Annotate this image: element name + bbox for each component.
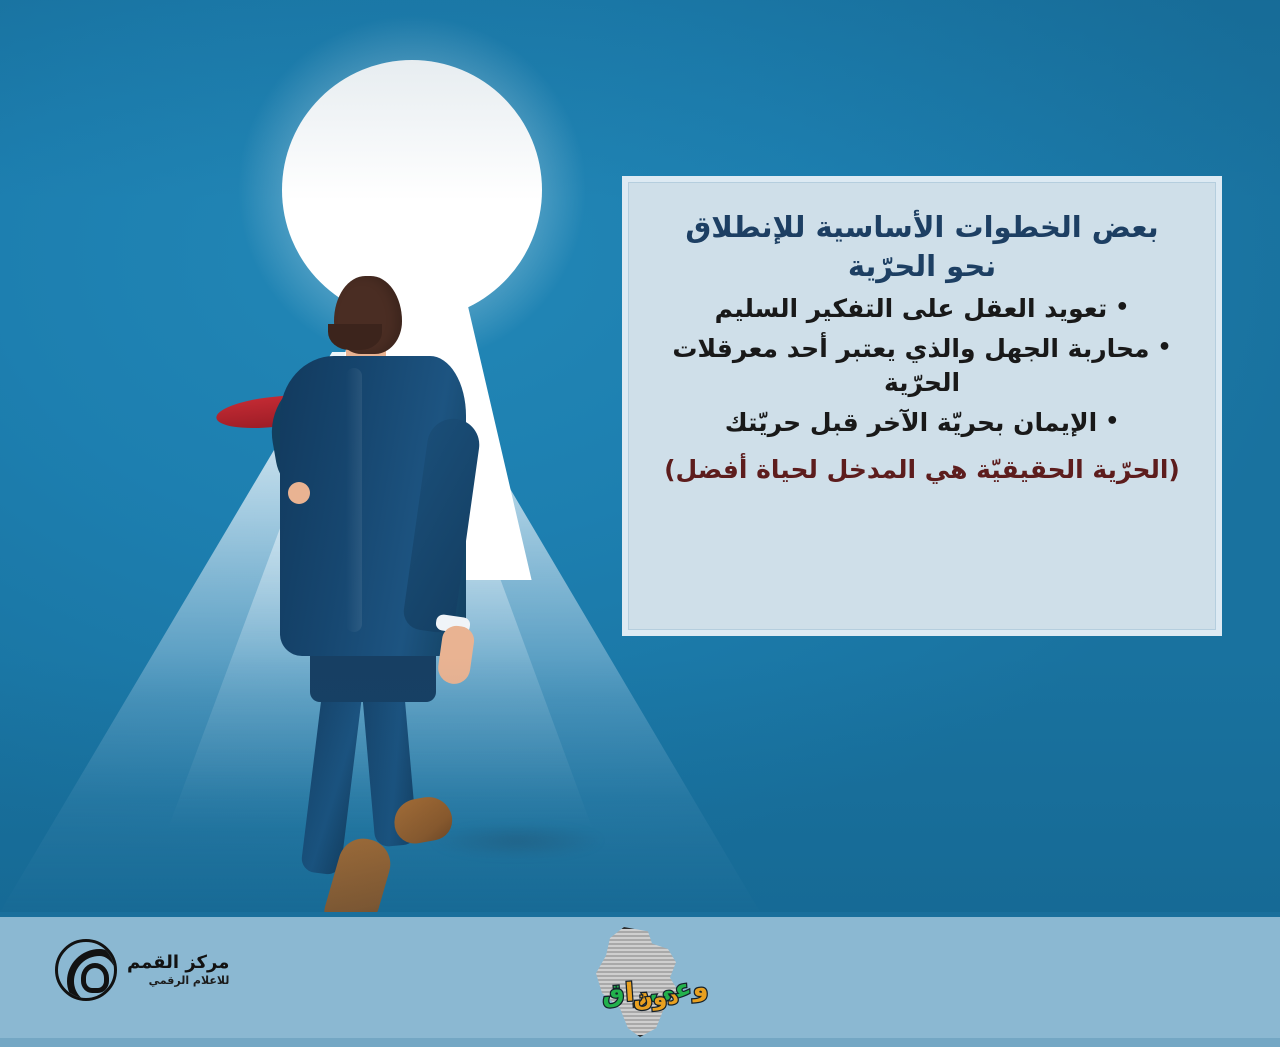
wordmark-line2-label: دون xyxy=(632,983,679,1012)
businessman-running-figure xyxy=(228,268,528,828)
infographic-poster: بعض الخطوات الأساسية للإنطلاق نحو الحرّي… xyxy=(0,0,1280,1047)
bullet-marker-icon: • xyxy=(1158,337,1172,359)
bullet-marker-icon: • xyxy=(1115,297,1129,319)
list-item: •محاربة الجهل والذي يعتبر أحد معرقلات ال… xyxy=(650,332,1194,400)
foot-shadow-front xyxy=(432,824,602,858)
brand-logo-center: و عي را ق دون xyxy=(584,927,704,1037)
closing-note: (الحرّية الحقيقيّة هي المدخل لحياة أفضل) xyxy=(650,452,1194,487)
brand-left-text: مركز القمم للاعلام الرقمي xyxy=(127,953,229,988)
brand-left-subtitle: للاعلام الرقمي xyxy=(127,975,229,987)
steps-list: •تعويد العقل على التفكير السليم •محاربة … xyxy=(650,292,1194,440)
list-item-label: الإيمان بحريّة الآخر قبل حريّتك xyxy=(725,408,1097,437)
list-item-label: تعويد العقل على التفكير السليم xyxy=(715,294,1108,323)
hand-left xyxy=(288,482,310,504)
circular-calligraphy-emblem-icon xyxy=(55,939,117,1001)
bullet-marker-icon: • xyxy=(1105,411,1119,433)
list-item-label: محاربة الجهل والذي يعتبر أحد معرقلات الح… xyxy=(672,334,1149,397)
footer-baseline-rule xyxy=(0,1038,1280,1047)
list-item: •الإيمان بحريّة الآخر قبل حريّتك xyxy=(650,406,1194,440)
jacket-fold xyxy=(346,368,362,632)
page-title: بعض الخطوات الأساسية للإنطلاق نحو الحرّي… xyxy=(650,208,1194,286)
text-panel: بعض الخطوات الأساسية للإنطلاق نحو الحرّي… xyxy=(622,176,1222,636)
brand-left-name: مركز القمم xyxy=(127,953,229,973)
list-item: •تعويد العقل على التفكير السليم xyxy=(650,292,1194,326)
page-title-line-1: بعض الخطوات الأساسية للإنطلاق xyxy=(685,210,1158,244)
footer-bar: مركز القمم للاعلام الرقمي و عي را ق دون xyxy=(0,912,1280,1047)
brand-logo-left: مركز القمم للاعلام الرقمي xyxy=(55,939,229,1001)
page-title-line-2: نحو الحرّية xyxy=(848,249,996,283)
